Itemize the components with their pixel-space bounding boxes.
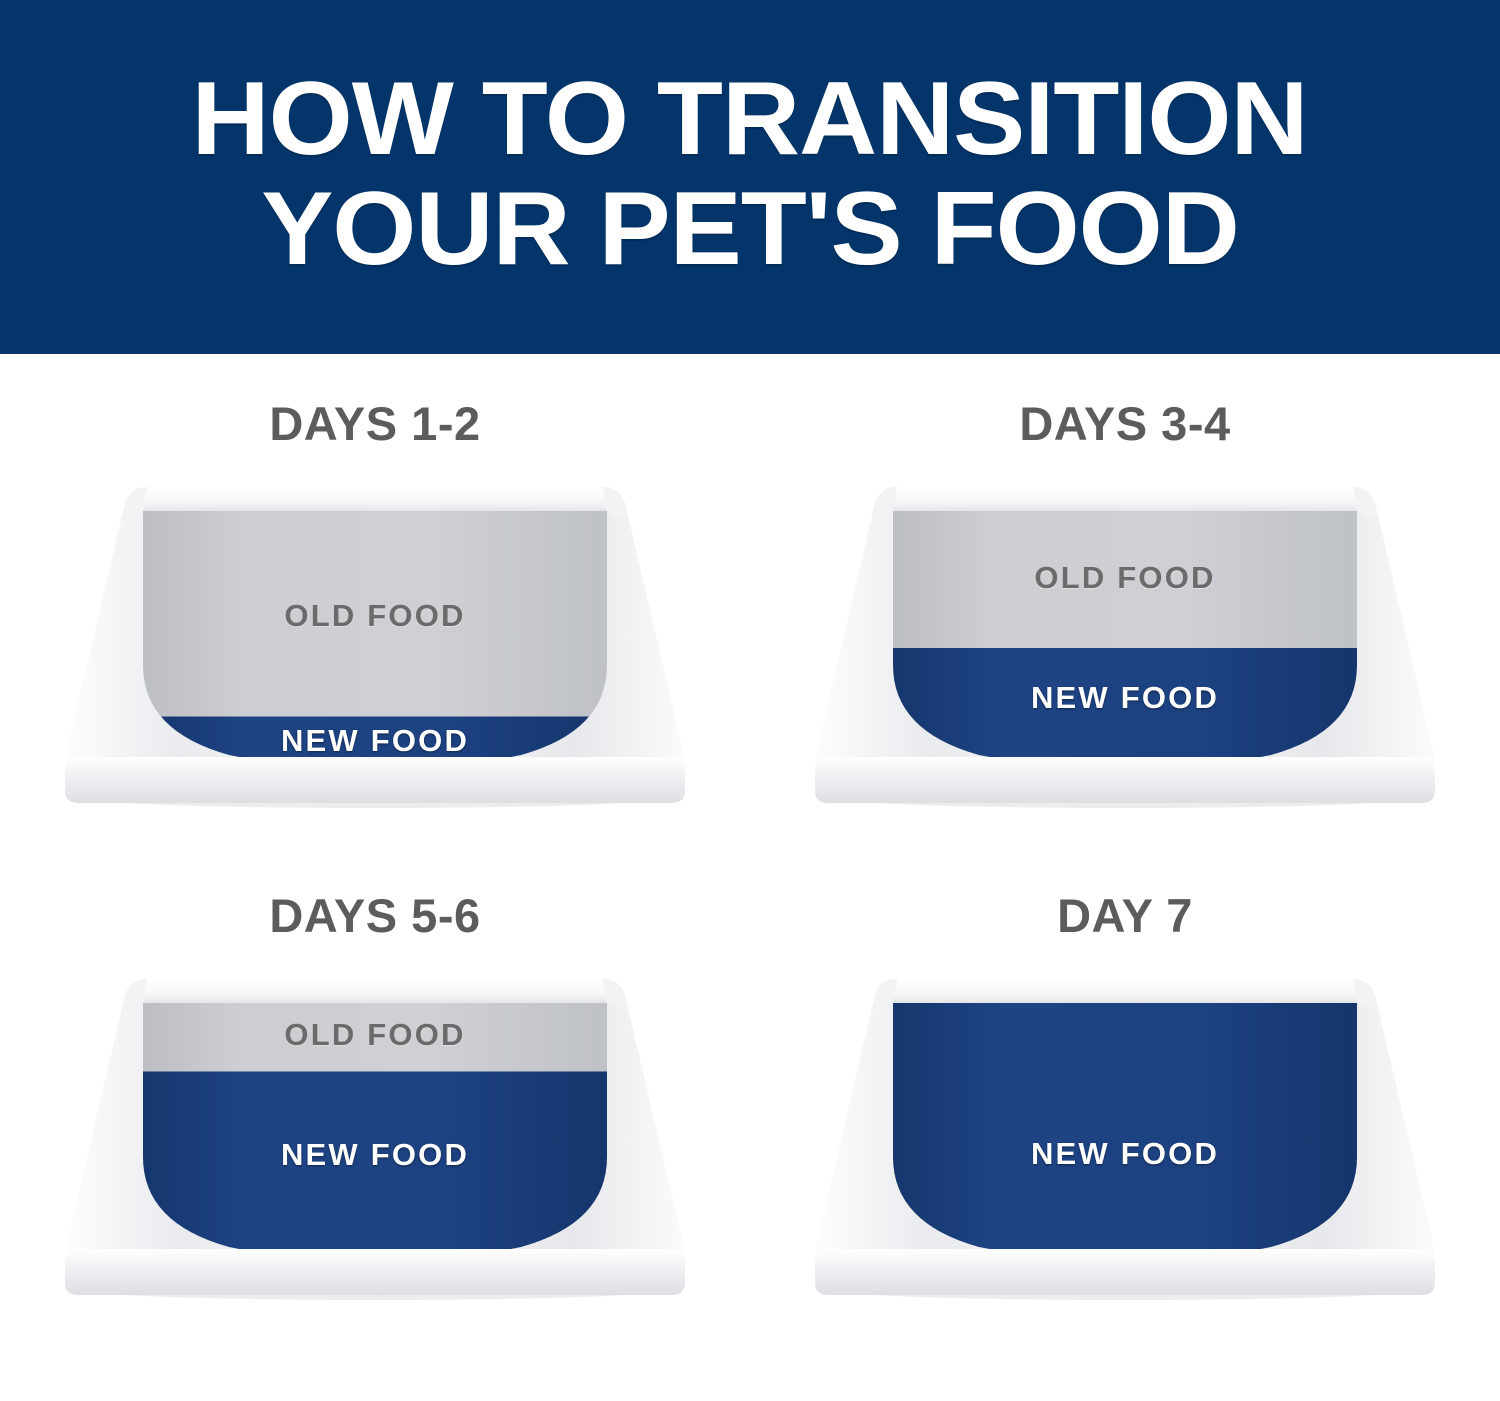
bowl-illustration: [801, 469, 1449, 829]
bowl-rim: [893, 487, 1357, 511]
stage-label-day-7: DAY 7: [1057, 888, 1193, 943]
stage-card-days-1-2: DAYS 1-2: [0, 396, 750, 888]
bowl-day-7: OLD FOOD NEW FOOD: [801, 961, 1449, 1321]
bowl-base: [815, 757, 1435, 803]
stage-card-day-7: DAY 7 OLD FOOD: [750, 888, 1500, 1380]
stage-card-days-5-6: DAYS 5-6 OLD FOOD: [0, 888, 750, 1380]
page-header: HOW TO TRANSITION YOUR PET'S FOOD: [0, 0, 1500, 354]
bowl-days-1-2: OLD FOOD NEW FOOD: [51, 469, 699, 829]
bowl-base: [65, 757, 685, 803]
old-food-fill: [881, 511, 1371, 648]
stage-label-days-1-2: DAYS 1-2: [269, 396, 480, 451]
stage-label-days-3-4: DAYS 3-4: [1019, 396, 1230, 451]
bowl-rim: [143, 979, 607, 1003]
bowl-illustration: [801, 961, 1449, 1321]
bowl-rim: [893, 979, 1357, 1003]
stage-card-days-3-4: DAYS 3-4 OLD FOOD: [750, 396, 1500, 888]
bowl-base: [65, 1249, 685, 1295]
bowl-days-5-6: OLD FOOD NEW FOOD: [51, 961, 699, 1321]
page-title-line-1: HOW TO TRANSITION: [192, 64, 1308, 174]
page-title-line-2: YOUR PET'S FOOD: [261, 174, 1239, 284]
bowl-illustration: [51, 961, 699, 1321]
old-food-fill: [131, 1003, 621, 1072]
bowl-days-3-4: OLD FOOD NEW FOOD: [801, 469, 1449, 829]
bowl-illustration: [51, 469, 699, 829]
bowl-base: [815, 1249, 1435, 1295]
transition-stage-grid: DAYS 1-2: [0, 354, 1500, 1401]
bowl-rim: [143, 487, 607, 511]
stage-label-days-5-6: DAYS 5-6: [269, 888, 480, 943]
old-food-fill: [131, 511, 621, 717]
